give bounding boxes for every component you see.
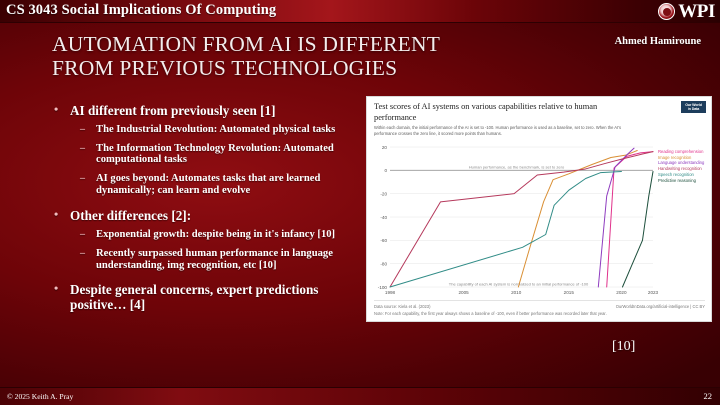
svg-text:0: 0 — [384, 168, 387, 173]
chart-subtitle: Within each domain, the initial performa… — [374, 125, 636, 136]
list-item: Despite general concerns, expert predict… — [44, 283, 362, 312]
chart-x-axis: 199820052010201520202023 — [374, 290, 655, 300]
chart-title: Test scores of AI systems on various cap… — [374, 102, 624, 123]
page-title-line2: FROM PREVIOUS TECHNOLOGIES — [52, 56, 532, 80]
x-axis-tick: 2015 — [564, 290, 574, 295]
page-number: 22 — [704, 391, 713, 401]
slide-footer: © 2025 Keith A. Pray 22 — [0, 387, 720, 405]
list-item: Recently surpassed human performance in … — [44, 248, 362, 272]
owid-logo-line2: in Data — [681, 107, 706, 111]
chart-legend: Reading comprehensionImage recognitionLa… — [658, 149, 712, 183]
x-axis-tick: 2020 — [616, 290, 626, 295]
list-item: AI goes beyond: Automates tasks that are… — [44, 173, 362, 197]
chart-credit: OurWorldInData.org/artificial-intelligen… — [616, 304, 705, 309]
list-item: Other differences [2]: — [44, 209, 362, 224]
bullet-list: AI different from previously seen [1] Th… — [44, 104, 362, 318]
x-axis-tick: 2010 — [511, 290, 521, 295]
wpi-seal-icon — [658, 3, 675, 20]
chart-image: Test scores of AI systems on various cap… — [366, 96, 712, 322]
slide-header: CS 3043 Social Implications Of Computing… — [0, 0, 720, 23]
x-axis-tick: 1998 — [385, 290, 395, 295]
chart-svg: 200-20-40-60-80-100Human performance, as… — [374, 143, 655, 291]
wpi-logo-text: WPI — [678, 2, 715, 21]
list-item: AI different from previously seen [1] — [44, 104, 362, 119]
svg-text:Human performance, as the benc: Human performance, as the benchmark, is … — [469, 165, 565, 170]
svg-text:-20: -20 — [380, 191, 387, 196]
slide: CS 3043 Social Implications Of Computing… — [0, 0, 720, 405]
svg-text:-80: -80 — [380, 261, 387, 266]
page-title-line1: AUTOMATION FROM AI IS DIFFERENT — [52, 32, 532, 56]
list-item: The Industrial Revolution: Automated phy… — [44, 124, 362, 136]
svg-text:-40: -40 — [380, 215, 387, 220]
page-title: AUTOMATION FROM AI IS DIFFERENT FROM PRE… — [52, 32, 532, 80]
chart-note: Note: For each capability, the first yea… — [374, 311, 705, 316]
chart-footer: Data source: Kiela et al. (2023) OurWorl… — [374, 300, 705, 316]
chart-data-source: Data source: Kiela et al. (2023) — [374, 304, 430, 309]
list-item: Exponential growth: despite being in it'… — [44, 229, 362, 241]
list-item: The Information Technology Revolution: A… — [44, 143, 362, 167]
chart-source-row: Data source: Kiela et al. (2023) OurWorl… — [374, 304, 705, 309]
wpi-logo: WPI — [658, 0, 715, 23]
svg-text:20: 20 — [382, 145, 388, 150]
x-axis-tick: 2005 — [458, 290, 468, 295]
copyright-text: © 2025 Keith A. Pray — [7, 392, 73, 401]
legend-item: Predictive reasoning — [658, 178, 712, 184]
presenter-name: Ahmed Hamiroune — [615, 36, 701, 47]
image-citation: [10] — [612, 339, 635, 355]
course-title: CS 3043 Social Implications Of Computing — [6, 2, 276, 19]
our-world-in-data-logo: Our World in Data — [681, 101, 706, 113]
svg-text:-60: -60 — [380, 238, 387, 243]
chart-plot-area: 200-20-40-60-80-100Human performance, as… — [374, 143, 655, 291]
x-axis-tick: 2023 — [648, 290, 658, 295]
